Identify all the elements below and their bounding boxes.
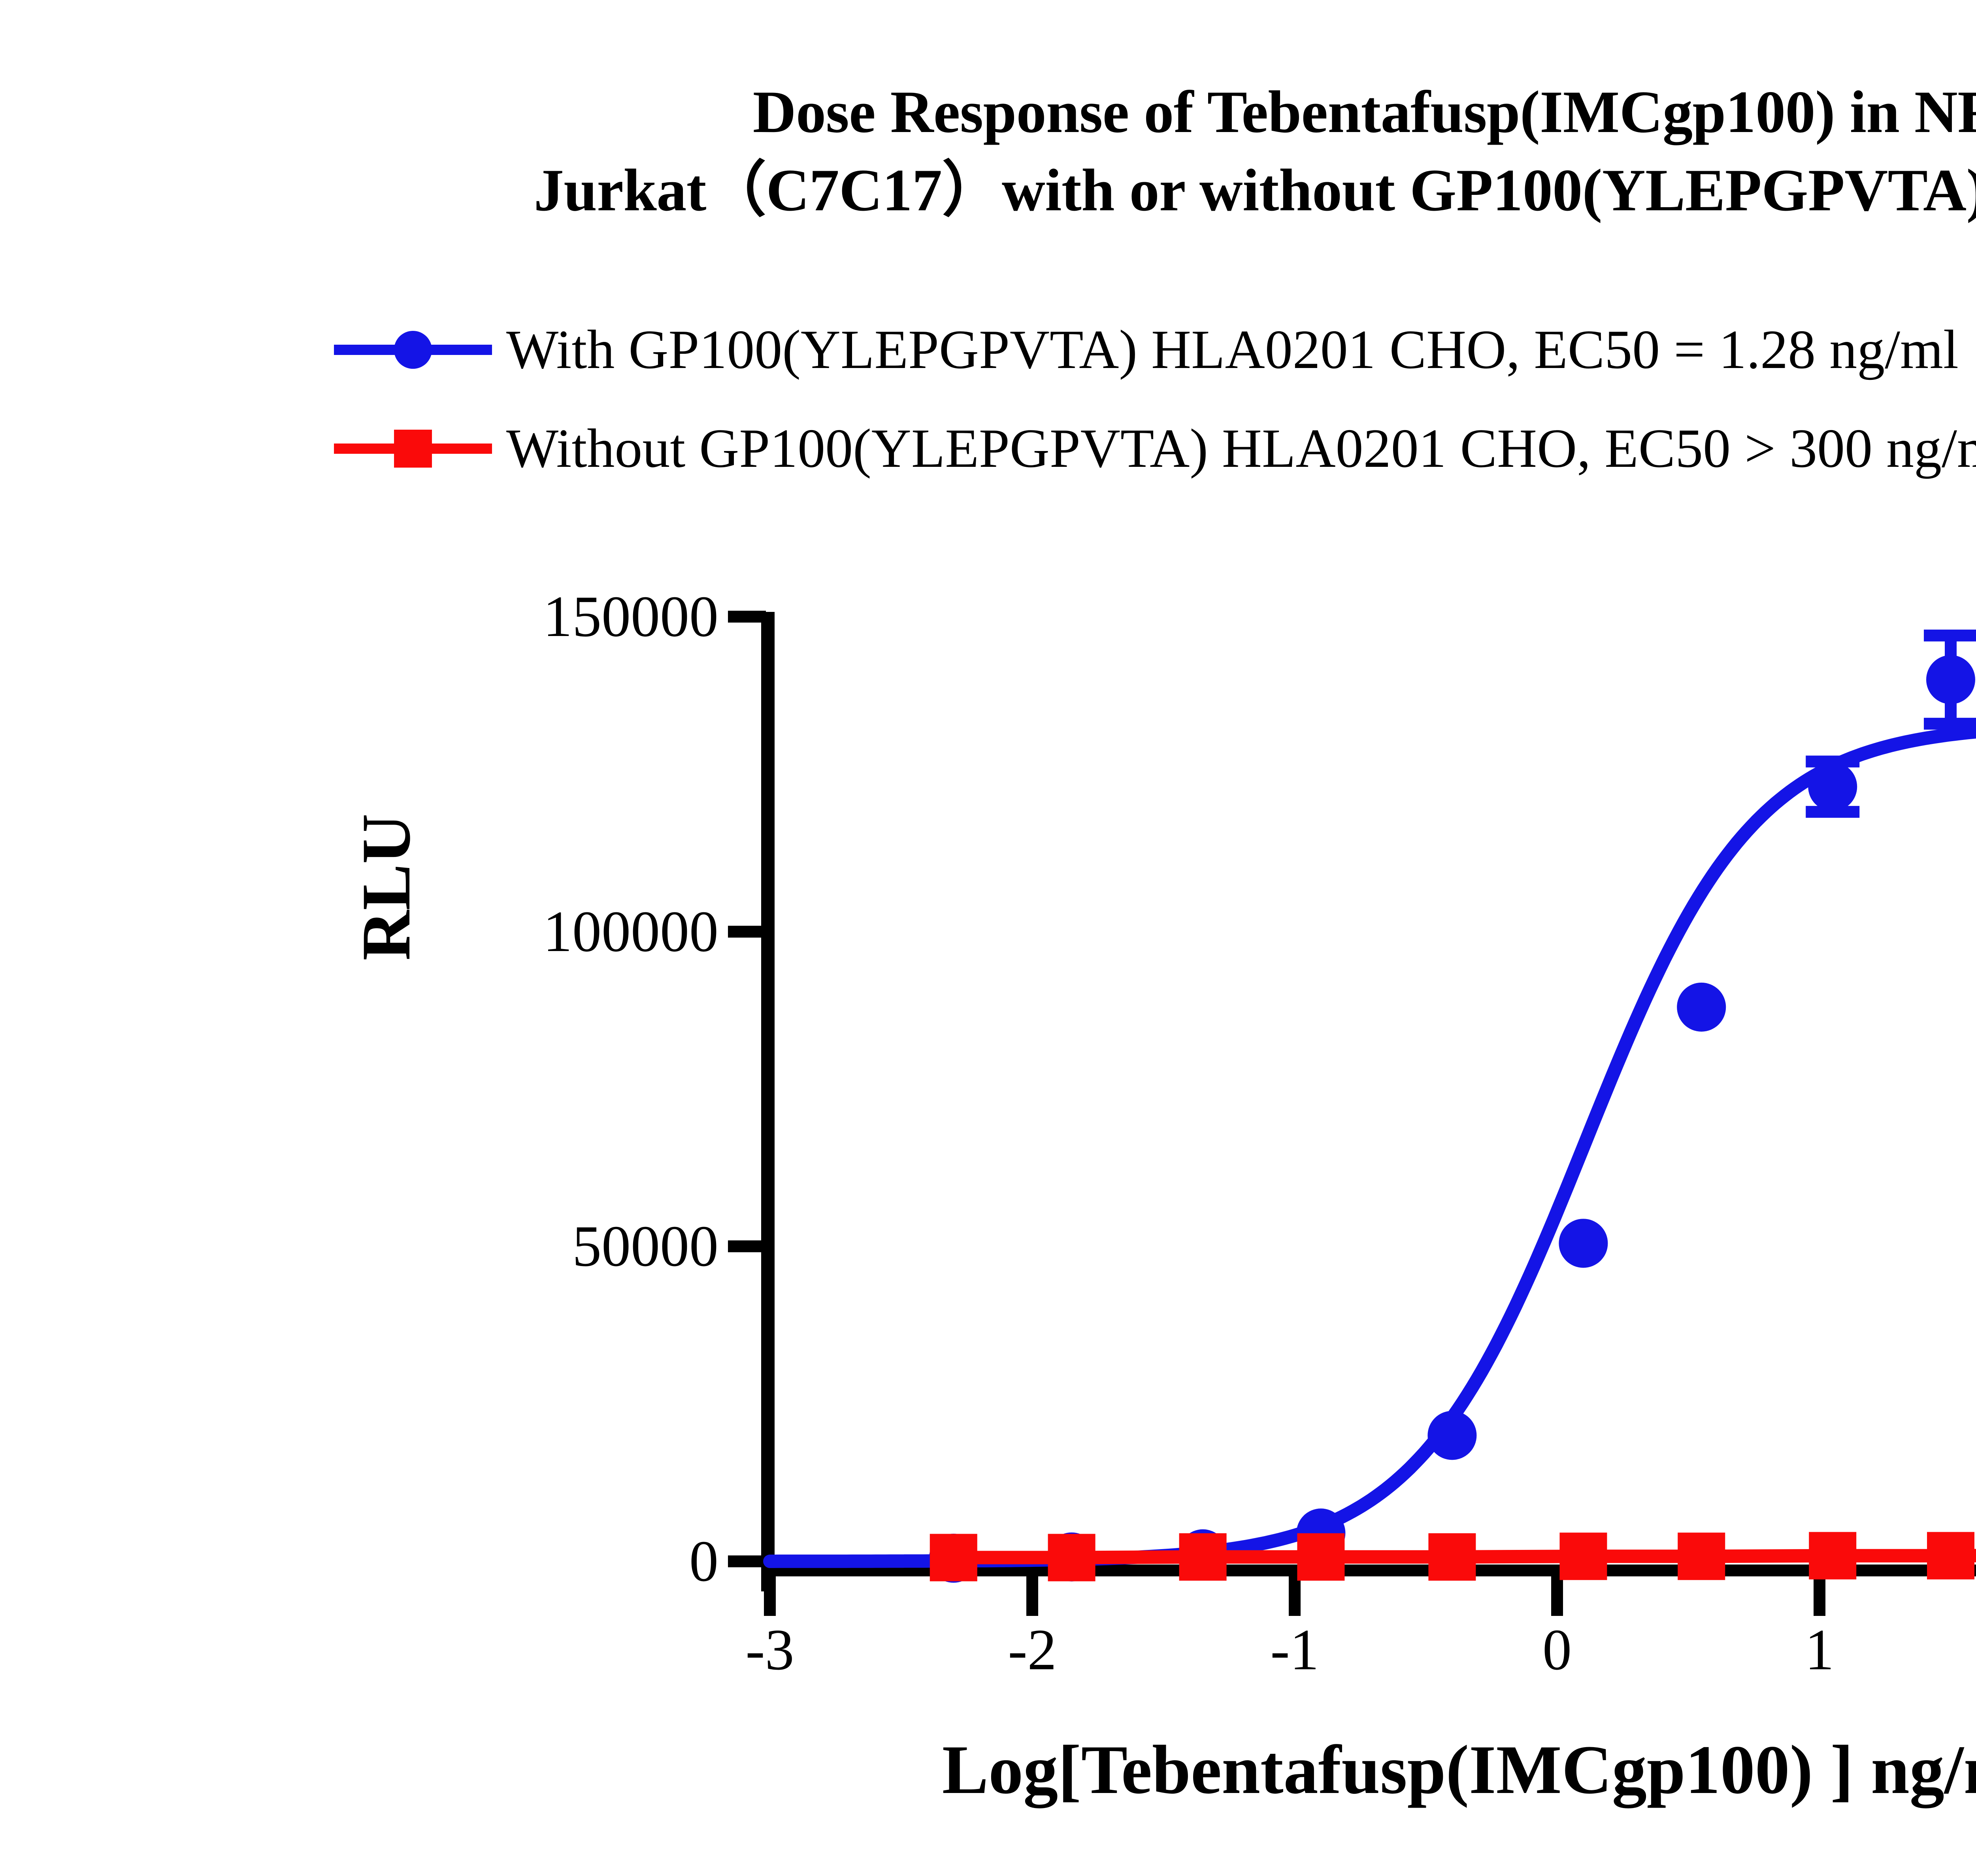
y-tick-label: 0 [689, 1532, 718, 1591]
x-tick-label: 0 [1542, 1621, 1572, 1679]
data-point-square[interactable] [930, 1534, 977, 1581]
plot-area: 050000100000150000 -3-2-1012 [770, 617, 1976, 1561]
series-without-gp100 [930, 1531, 1976, 1581]
chart-title-line-2: Jurkat（C7C17）with or without GP100(YLEPG… [0, 151, 1976, 230]
x-tick-mark [1551, 1576, 1563, 1616]
data-point-square[interactable] [1048, 1534, 1095, 1581]
data-point-square[interactable] [1809, 1532, 1856, 1580]
data-point-circle[interactable] [1559, 1219, 1608, 1268]
data-point-square[interactable] [1179, 1533, 1227, 1581]
legend-item-with-gp100[interactable]: With GP100(YLEPGPVTA) HLA0201 CHO, EC50 … [334, 300, 1976, 399]
data-point-square[interactable] [1678, 1533, 1725, 1580]
data-point-circle[interactable] [1926, 655, 1975, 704]
y-tick-mark [728, 611, 766, 623]
chart-title-line-1: Dose Response of Tebentafusp(IMCgp100) i… [0, 73, 1976, 151]
x-axis-title: Log[Tebentafusp(IMCgp100) ] ng/ml [770, 1735, 1976, 1805]
dose-response-figure: Dose Response of Tebentafusp(IMCgp100) i… [0, 0, 1976, 1876]
x-tick-mark [764, 1576, 776, 1616]
x-tick-mark [1026, 1576, 1038, 1616]
y-axis-title: RLU [352, 813, 421, 961]
y-tick-label: 50000 [572, 1217, 718, 1276]
data-point-circle[interactable] [1427, 1411, 1476, 1460]
series-line [770, 724, 1976, 1561]
square-marker-icon [394, 430, 432, 468]
legend-item-without-gp100[interactable]: Without GP100(YLEPGPVTA) HLA0201 CHO, EC… [334, 399, 1976, 498]
x-tick-mark [1289, 1576, 1301, 1616]
x-tick-label: -1 [1270, 1621, 1319, 1679]
data-point-circle[interactable] [1677, 983, 1726, 1032]
x-tick-mark [1814, 1576, 1825, 1616]
y-tick-mark [728, 926, 766, 938]
y-tick-mark [728, 1555, 766, 1567]
data-point-square[interactable] [1559, 1533, 1607, 1580]
y-tick-label: 150000 [543, 587, 718, 646]
circle-marker-icon [394, 331, 432, 369]
data-point-square[interactable] [1428, 1533, 1476, 1581]
legend-label-without-gp100: Without GP100(YLEPGPVTA) HLA0201 CHO, EC… [492, 421, 1976, 476]
y-tick-label: 100000 [543, 902, 718, 961]
legend-key-blue [334, 318, 492, 381]
data-point-square[interactable] [1927, 1532, 1974, 1580]
x-tick-label: -3 [745, 1621, 794, 1679]
legend-label-with-gp100: With GP100(YLEPGPVTA) HLA0201 CHO, EC50 … [492, 322, 1959, 377]
legend-key-red [334, 417, 492, 480]
data-point-circle[interactable] [1808, 762, 1857, 811]
series-with-gp100 [770, 636, 1976, 1583]
x-tick-label: 1 [1805, 1621, 1834, 1679]
chart-legend: With GP100(YLEPGPVTA) HLA0201 CHO, EC50 … [334, 300, 1976, 498]
y-tick-mark [728, 1240, 766, 1252]
chart-title: Dose Response of Tebentafusp(IMCgp100) i… [0, 73, 1976, 229]
data-point-square[interactable] [1297, 1533, 1344, 1581]
x-tick-label: -2 [1008, 1621, 1056, 1679]
data-layer [770, 617, 1976, 1561]
